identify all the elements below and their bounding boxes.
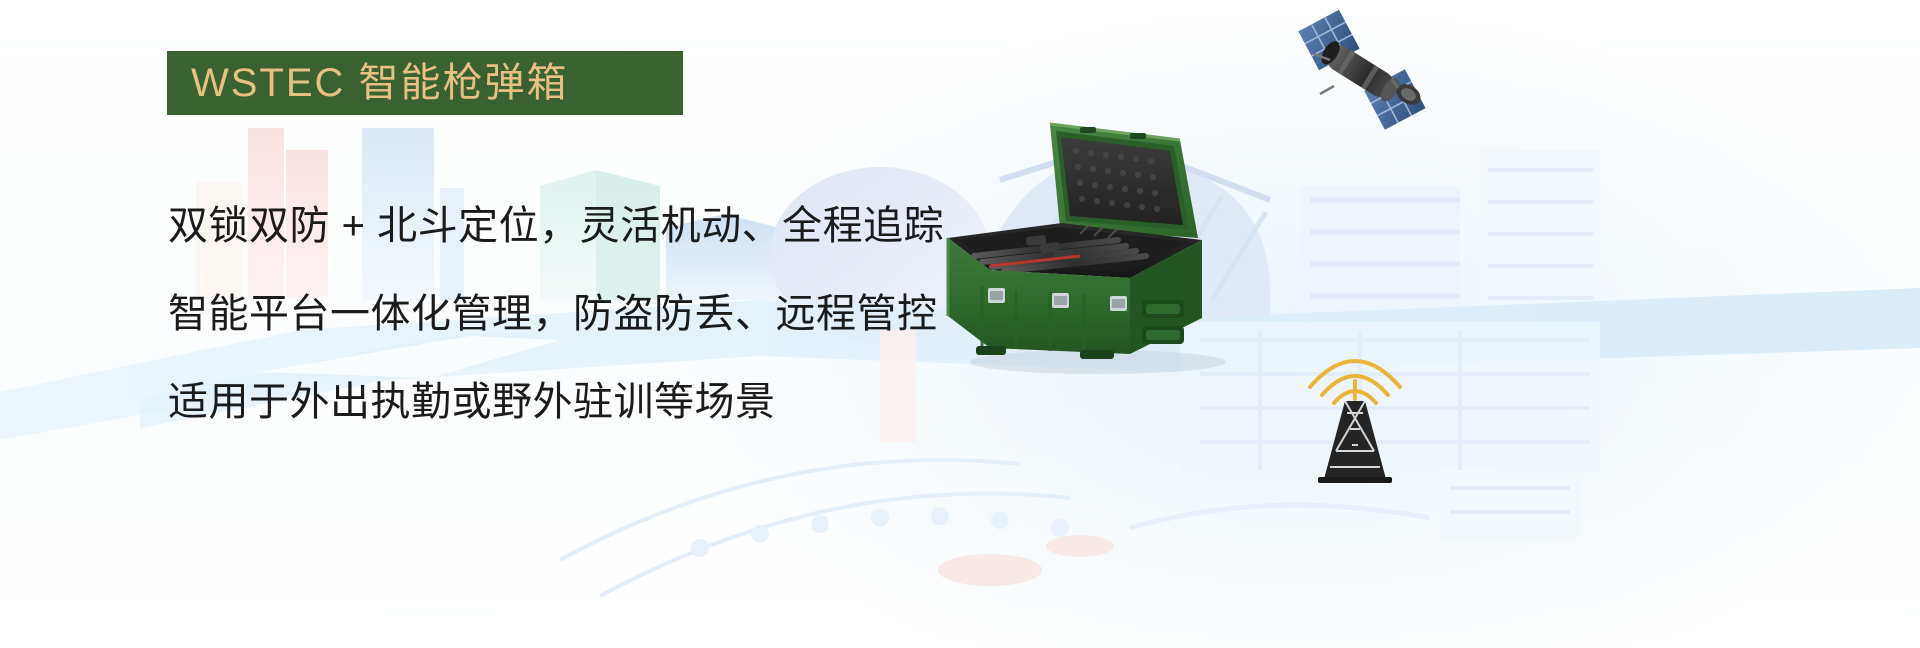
case-lid — [1050, 124, 1198, 238]
banner-title: WSTEC 智能枪弹箱 — [167, 63, 569, 103]
title-plate: WSTEC 智能枪弹箱 — [167, 51, 683, 115]
satellite-icon — [1290, 8, 1430, 133]
promo-banner: WSTEC 智能枪弹箱 双锁双防 + 北斗定位，灵活机动、全程追踪 智能平台一体… — [0, 0, 1920, 648]
signal-tower-icon — [1300, 355, 1410, 485]
feature-line-1: 双锁双防 + 北斗定位，灵活机动、全程追踪 — [168, 182, 1008, 270]
feature-list: 双锁双防 + 北斗定位，灵活机动、全程追踪 智能平台一体化管理，防盗防丢、远程管… — [168, 182, 1008, 446]
product-case-image — [930, 110, 1260, 375]
feature-line-3: 适用于外出执勤或野外驻训等场景 — [168, 358, 1008, 446]
feature-line-2: 智能平台一体化管理，防盗防丢、远程管控 — [168, 270, 1008, 358]
